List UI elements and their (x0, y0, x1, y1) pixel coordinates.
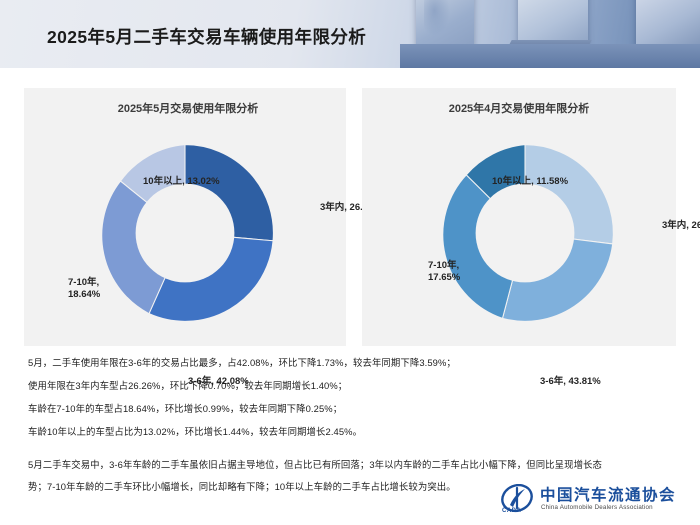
logo-abbreviation: CADA (502, 508, 521, 514)
association-logo: CADA 中国汽车流通协会 China Automobile Dealers A… (500, 483, 690, 519)
slide-page: 2025年5月二手车交易车辆使用年限分析 2025年5月交易使用年限分析 10年… (0, 0, 700, 525)
chart-title-april: 2025年4月交易使用年限分析 (362, 100, 676, 116)
banner-floor (400, 44, 700, 68)
donut-hole (136, 184, 235, 283)
decorative-cube-1 (416, 0, 474, 48)
analysis-line-1: 5月，二手车使用年限在3-6年的交易占比最多，占42.08%，环比下降1.73%… (28, 356, 688, 369)
chart-panel-may: 2025年5月交易使用年限分析 10年以上, 13.02% 3年内, 26.26… (24, 88, 346, 346)
analysis-paragraph-1: 5月，二手车使用年限在3-6年的交易占比最多，占42.08%，环比下降1.73%… (28, 356, 688, 448)
chart-title-may: 2025年5月交易使用年限分析 (24, 100, 346, 116)
chart-label-april-under3: 3年内, 26.96% (662, 220, 700, 232)
summary-line-1: 5月二手车交易中，3-6年车龄的二手车虽依旧占据主导地位，但占比已有所回落；3年… (28, 458, 688, 471)
donut-chart-april: 10年以上, 11.58% 3年内, 26.96% 7-10年, 17.65% … (430, 138, 620, 328)
analysis-line-2: 使用年限在3年内车型占26.26%，环比下降0.70%，较去年同期增长1.40%… (28, 379, 688, 392)
analysis-line-3: 车龄在7-10年的车型占18.64%，环比增长0.99%，较去年同期下降0.25… (28, 402, 688, 415)
analysis-line-4: 车龄10年以上的车型占比为13.02%，环比增长1.44%，较去年同期增长2.4… (28, 425, 688, 438)
logo-english-name: China Automobile Dealers Association (541, 504, 653, 511)
page-title: 2025年5月二手车交易车辆使用年限分析 (47, 24, 366, 49)
chart-label-april-10plus: 10年以上, 11.58% (492, 176, 568, 188)
logo-chinese-name: 中国汽车流通协会 (540, 483, 676, 505)
donut-chart-may: 10年以上, 13.02% 3年内, 26.26% 7-10年, 18.64% … (90, 138, 280, 328)
header-banner: 2025年5月二手车交易车辆使用年限分析 (0, 0, 700, 68)
chart-panel-april: 2025年4月交易使用年限分析 10年以上, 11.58% 3年内, 26.96… (362, 88, 676, 346)
chart-label-may-7to10: 7-10年, 18.64% (68, 277, 128, 301)
decorative-cube-3 (636, 0, 700, 46)
donut-hole (476, 184, 575, 283)
decorative-cube-2 (518, 0, 588, 46)
chart-label-may-10plus: 10年以上, 13.02% (143, 176, 220, 188)
donut-svg-april (430, 138, 620, 328)
chart-label-april-7to10: 7-10年, 17.65% (428, 260, 488, 284)
